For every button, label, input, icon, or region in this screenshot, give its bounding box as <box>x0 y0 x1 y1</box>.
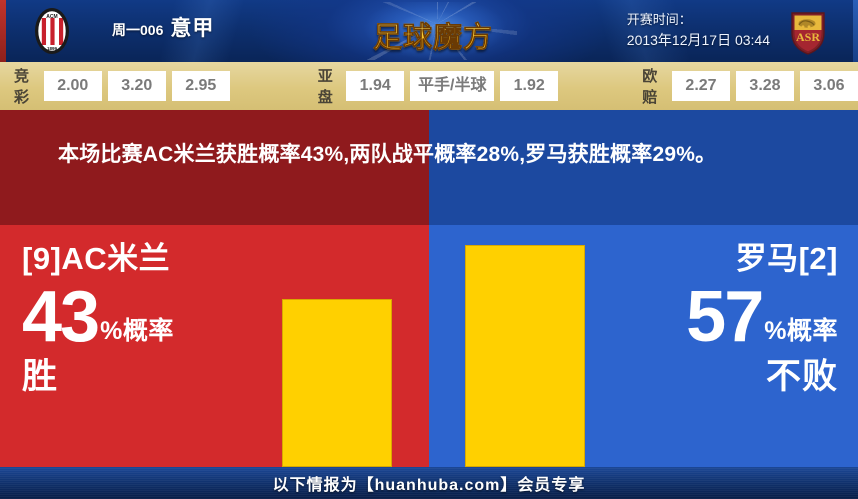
kickoff-time: 开赛时间： 2013年12月17日 03:44 <box>627 10 770 50</box>
match-round-label: 周一006 <box>112 20 163 40</box>
odds-bar: 竞彩 2.00 3.20 2.95 亚盘 1.94 平手/半球 1.92 欧赔 … <box>0 62 858 110</box>
away-team-name: 罗马[2] <box>588 239 838 279</box>
odds-group-label: 竞彩 <box>14 65 35 107</box>
brand-logo-text: 足球魔方 <box>349 14 517 56</box>
odds-cell-away[interactable]: 2.95 <box>172 71 230 101</box>
footer-bar: 以下情报为【huanhuba.com】会员专享 <box>0 467 858 499</box>
odds-cell-handicap[interactable]: 平手/半球 <box>410 71 494 101</box>
away-probability-value: 57 <box>686 283 762 351</box>
header-right-accent <box>853 0 858 62</box>
odds-cell-away[interactable]: 1.92 <box>500 71 558 101</box>
odds-cell-home[interactable]: 2.00 <box>44 71 102 101</box>
away-probability-suffix: %概率 <box>762 319 838 351</box>
footer-text: 以下情报为【huanhuba.com】会员专享 <box>273 471 586 495</box>
away-probability-row: 57 %概率 <box>588 283 838 351</box>
odds-cell-draw[interactable]: 3.28 <box>736 71 794 101</box>
ac-milan-crest-icon: ACM 1899 <box>26 5 78 57</box>
home-outcome-label: 胜 <box>22 355 272 399</box>
odds-cell-away[interactable]: 3.06 <box>800 71 858 101</box>
odds-group-jingcai: 竞彩 2.00 3.20 2.95 <box>14 65 230 107</box>
odds-group-european: 欧赔 2.27 3.28 3.06 <box>642 65 858 107</box>
match-probability-graphic: ACM 1899 周一006 意甲 足球魔方 开赛时间： 2013年12月17日… <box>0 0 858 499</box>
home-team-name: [9]AC米兰 <box>22 239 272 279</box>
odds-group-label: 欧赔 <box>642 65 663 107</box>
away-team-block: 罗马[2] 57 %概率 不败 <box>588 239 838 399</box>
odds-group-asian-handicap: 亚盘 1.94 平手/半球 1.92 <box>318 65 558 107</box>
home-team-block: [9]AC米兰 43 %概率 胜 <box>22 239 272 399</box>
odds-cell-draw[interactable]: 3.20 <box>108 71 166 101</box>
home-probability-suffix: %概率 <box>98 319 174 351</box>
svg-text:ACM: ACM <box>46 14 57 20</box>
home-probability-bar <box>282 299 392 467</box>
summary-text: 本场比赛AC米兰获胜概率43%,两队战平概率28%,罗马获胜概率29%。 <box>58 138 800 171</box>
odds-cell-home[interactable]: 2.27 <box>672 71 730 101</box>
home-probability-row: 43 %概率 <box>22 283 272 351</box>
brand-logo: 足球魔方 <box>349 2 517 60</box>
odds-group-label: 亚盘 <box>318 65 337 107</box>
header-left-accent <box>0 0 6 62</box>
probability-chart: [9]AC米兰 43 %概率 胜 罗马[2] 57 %概率 不败 <box>0 225 858 467</box>
away-probability-bar <box>465 245 585 467</box>
kickoff-label: 开赛时间： <box>627 10 770 30</box>
away-outcome-label: 不败 <box>588 355 838 399</box>
as-roma-crest-icon: ASR <box>782 5 834 57</box>
odds-cell-home[interactable]: 1.94 <box>346 71 404 101</box>
home-probability-value: 43 <box>22 283 98 351</box>
kickoff-value: 2013年12月17日 03:44 <box>627 30 770 50</box>
match-league-label: 意甲 <box>170 12 214 42</box>
svg-text:ASR: ASR <box>796 30 820 44</box>
match-header: ACM 1899 周一006 意甲 足球魔方 开赛时间： 2013年12月17日… <box>0 0 858 62</box>
summary-band: 本场比赛AC米兰获胜概率43%,两队战平概率28%,罗马获胜概率29%。 <box>0 110 858 225</box>
match-meta: 周一006 意甲 <box>112 12 214 42</box>
